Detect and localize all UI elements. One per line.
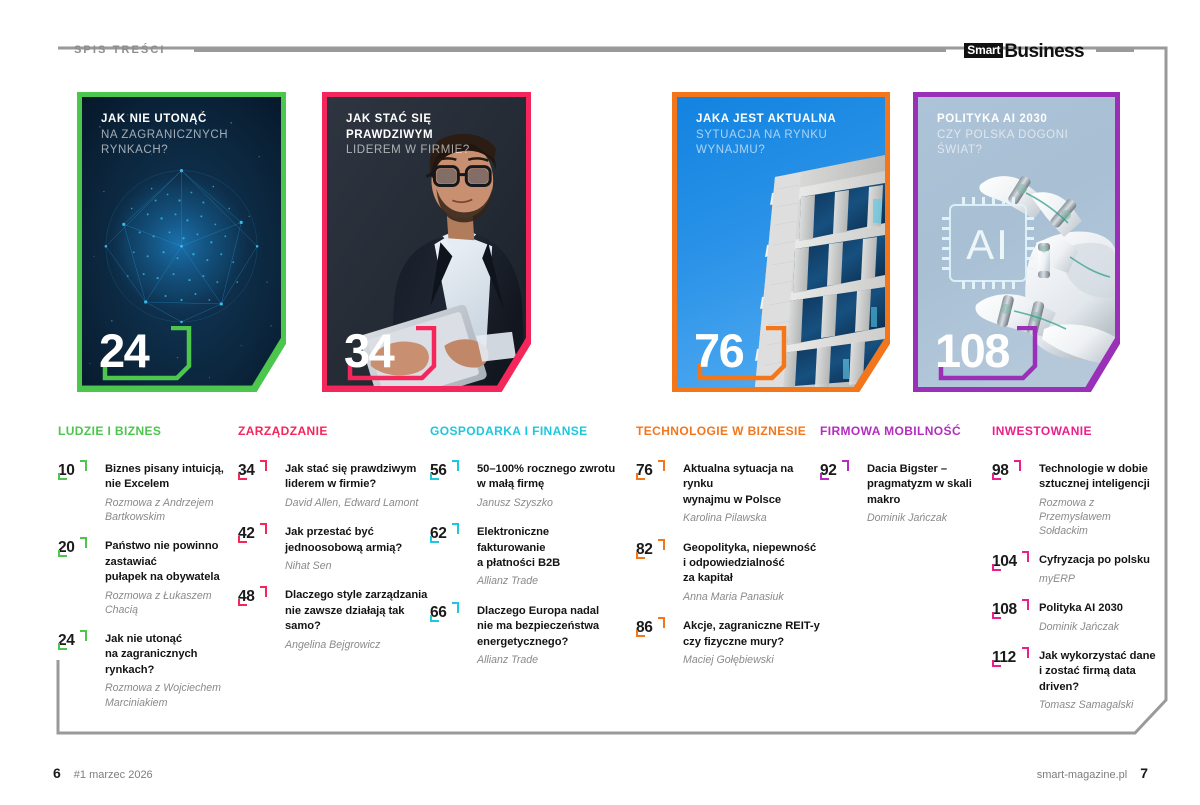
footer-right: smart-magazine.pl 7 bbox=[1037, 765, 1148, 781]
toc-entry-author: Rozmowa z WojciechemMarciniakiem bbox=[105, 681, 238, 709]
toc-entry[interactable]: 10Biznes pisany intuicją,nie ExcelemRozm… bbox=[58, 462, 238, 524]
toc-entry-page-wrap: 48 bbox=[238, 588, 282, 652]
toc-entry-title: Dlaczego style zarządzanianie zawsze dzi… bbox=[285, 588, 428, 634]
toc-entry-title: Dacia Bigster –pragmatyzm w skali makro bbox=[867, 462, 990, 508]
toc-entry-title: Jak wykorzystać danei zostać firmą data … bbox=[1039, 649, 1168, 695]
toc-entry-page-wrap: 108 bbox=[992, 601, 1036, 634]
toc-entry-body: Technologie w dobiesztucznej inteligencj… bbox=[1036, 462, 1168, 538]
toc-entry-bracket-top bbox=[452, 523, 459, 534]
logo-business-text: Business bbox=[1004, 42, 1084, 61]
toc-entry-author: Karolina Pilawska bbox=[683, 511, 821, 525]
feature-card-1-page: 24 bbox=[99, 327, 148, 374]
toc-entry-page-wrap: 24 bbox=[58, 632, 102, 710]
feature-card-4-title-line2: CZY POLSKA DOGONI ŚWIAT? bbox=[937, 128, 1106, 159]
toc-entry-bracket-top bbox=[658, 460, 665, 471]
toc-entry-page-wrap: 82 bbox=[636, 541, 680, 605]
feature-card-3-title-line2: SYTUACJA NA RYNKU WYNAJMU? bbox=[696, 128, 876, 159]
toc-entry[interactable]: 66Dlaczego Europa nadalnie ma bezpieczeń… bbox=[430, 604, 620, 668]
toc-entry-author: Janusz Szyszko bbox=[477, 496, 620, 510]
toc-entry-title: Technologie w dobiesztucznej inteligencj… bbox=[1039, 462, 1168, 493]
toc-entry-author: Rozmowa z Łukaszem Chacią bbox=[105, 589, 238, 617]
toc-entry-bracket-bottom bbox=[820, 473, 829, 480]
feature-card-1[interactable]: JAK NIE UTONĄĆ NA ZAGRANICZNYCH RYNKACH?… bbox=[77, 92, 286, 392]
toc-entry-body: Cyfryzacja po polskumyERP bbox=[1036, 553, 1168, 586]
toc-entry-title: Cyfryzacja po polsku bbox=[1039, 553, 1168, 568]
toc-section-heading: INWESTOWANIE bbox=[992, 424, 1168, 438]
toc-entry-page-wrap: 10 bbox=[58, 462, 102, 524]
page-header: SPIS TREŚCI Smart Business bbox=[74, 38, 1134, 62]
toc-section-heading: GOSPODARKA I FINANSE bbox=[430, 424, 620, 438]
toc-entry-body: Jak stać się prawdziwymliderem w firmie?… bbox=[282, 462, 428, 510]
feature-card-4[interactable]: AI POLITYKA AI 2030 CZY POLSKA DOGONI ŚW… bbox=[913, 92, 1120, 392]
toc-entry-body: Dlaczego Europa nadalnie ma bezpieczeńst… bbox=[474, 604, 620, 668]
toc-entry-title: Akcje, zagraniczne REIT-yczy fizyczne mu… bbox=[683, 619, 821, 650]
toc-entry-body: Akcje, zagraniczne REIT-yczy fizyczne mu… bbox=[680, 619, 821, 667]
toc-entry-page-wrap: 20 bbox=[58, 539, 102, 617]
toc-entry[interactable]: 62Elektroniczne fakturowaniea płatności … bbox=[430, 525, 620, 589]
toc-entry-author: Allianz Trade bbox=[477, 574, 620, 588]
header-rule-right bbox=[1096, 49, 1134, 52]
feature-card-2-title: JAK STAĆ SIĘ PRAWDZIWYM LIDEREM W FIRMIE… bbox=[346, 112, 517, 159]
toc-column-ludzie-i-biznes: LUDZIE I BIZNES10Biznes pisany intuicją,… bbox=[58, 424, 238, 725]
toc-entry-page-wrap: 62 bbox=[430, 525, 474, 589]
toc-entry-bracket-top bbox=[1022, 647, 1029, 658]
brand-logo: Smart Business bbox=[964, 41, 1084, 60]
toc-entry-bracket-top bbox=[658, 539, 665, 550]
toc-entry-body: 50–100% rocznego zwrotuw małą firmęJanus… bbox=[474, 462, 620, 510]
toc-section-heading: ZARZĄDZANIE bbox=[238, 424, 428, 438]
feature-card-1-title-line1: JAK NIE UTONĄĆ bbox=[101, 112, 272, 128]
header-rule-left bbox=[194, 49, 947, 52]
toc-entry-bracket-bottom bbox=[238, 536, 247, 543]
toc-column-firmowa-mobilnosc: FIRMOWA MOBILNOŚĆ92Dacia Bigster –pragma… bbox=[820, 424, 990, 541]
toc-entry[interactable]: 24Jak nie utonąćna zagranicznych rynkach… bbox=[58, 632, 238, 710]
magazine-toc-page: SPIS TREŚCI Smart Business bbox=[0, 0, 1200, 805]
feature-card-4-title: POLITYKA AI 2030 CZY POLSKA DOGONI ŚWIAT… bbox=[937, 112, 1106, 159]
toc-column-zarzadzanie: ZARZĄDZANIE34Jak stać się prawdziwymlide… bbox=[238, 424, 428, 667]
toc-entry-bracket-top bbox=[1022, 599, 1029, 610]
feature-cards: JAK NIE UTONĄĆ NA ZAGRANICZNYCH RYNKACH?… bbox=[0, 92, 1200, 392]
toc-entry-author: myERP bbox=[1039, 572, 1168, 586]
toc-entry-title: Elektroniczne fakturowaniea płatności B2… bbox=[477, 525, 620, 571]
toc-entry-bracket-top bbox=[80, 460, 87, 471]
feature-card-1-title: JAK NIE UTONĄĆ NA ZAGRANICZNYCH RYNKACH? bbox=[101, 112, 272, 159]
toc-entry[interactable]: 92Dacia Bigster –pragmatyzm w skali makr… bbox=[820, 462, 990, 526]
toc-entry-author: Rozmowa z PrzemysławemSołdackim bbox=[1039, 496, 1168, 539]
toc-entry-title: Aktualna sytuacja na rynkuwynajmu w Pols… bbox=[683, 462, 821, 508]
toc-entry-bracket-top bbox=[260, 586, 267, 597]
toc-entry[interactable]: 5650–100% rocznego zwrotuw małą firmęJan… bbox=[430, 462, 620, 510]
toc-entry-page-wrap: 66 bbox=[430, 604, 474, 668]
feature-card-3-title: JAKA JEST AKTUALNA SYTUACJA NA RYNKU WYN… bbox=[696, 112, 876, 159]
toc-entry-bracket-top bbox=[1014, 460, 1021, 471]
toc-entry-page-wrap: 104 bbox=[992, 553, 1036, 586]
toc-entry-bracket-bottom bbox=[636, 630, 645, 637]
toc-entry-author: Nihat Sen bbox=[285, 559, 428, 573]
toc-entry-author: Dominik Jańczak bbox=[1039, 620, 1168, 634]
toc-entry-title: Biznes pisany intuicją,nie Excelem bbox=[105, 462, 238, 493]
toc-column-inwestowanie: INWESTOWANIE98Technologie w dobiesztuczn… bbox=[992, 424, 1168, 727]
toc-entry-bracket-top bbox=[260, 523, 267, 534]
footer-website[interactable]: smart-magazine.pl bbox=[1037, 769, 1127, 781]
toc-entry-bracket-bottom bbox=[238, 599, 247, 606]
toc-entry-bracket-top bbox=[260, 460, 267, 471]
toc-entry-page-wrap: 34 bbox=[238, 462, 282, 510]
toc-entry-bracket-bottom bbox=[992, 564, 1001, 571]
toc-entry-author: David Allen, Edward Lamont bbox=[285, 496, 428, 510]
toc-entry-title: Jak przestać byćjednoosobową armią? bbox=[285, 525, 428, 556]
toc-entry-author: Rozmowa z AndrzejemBartkowskim bbox=[105, 496, 238, 524]
toc-entry-author: Tomasz Samagalski bbox=[1039, 698, 1168, 712]
feature-card-3-page: 76 bbox=[694, 327, 743, 374]
toc-entry-body: Elektroniczne fakturowaniea płatności B2… bbox=[474, 525, 620, 589]
toc-entry-page-wrap: 86 bbox=[636, 619, 680, 667]
toc-entry-bracket-top bbox=[80, 537, 87, 548]
toc-entry-author: Allianz Trade bbox=[477, 653, 620, 667]
logo-smart-text: Smart bbox=[964, 43, 1003, 58]
toc-entry[interactable]: 42Jak przestać byćjednoosobową armią?Nih… bbox=[238, 525, 428, 573]
toc-entry-bracket-top bbox=[80, 630, 87, 641]
toc-entry[interactable]: 112Jak wykorzystać danei zostać firmą da… bbox=[992, 649, 1168, 713]
toc-entry[interactable]: 82Geopolityka, niepewnośći odpowiedzialn… bbox=[636, 541, 821, 605]
toc-entry-bracket-bottom bbox=[430, 473, 439, 480]
toc-entry-author: Angelina Bejgrowicz bbox=[285, 638, 428, 652]
toc-entry[interactable]: 108Polityka AI 2030Dominik Jańczak bbox=[992, 601, 1168, 634]
feature-card-4-page: 108 bbox=[935, 327, 1009, 374]
toc-entry-body: Aktualna sytuacja na rynkuwynajmu w Pols… bbox=[680, 462, 821, 526]
toc-entry-title: Dlaczego Europa nadalnie ma bezpieczeńst… bbox=[477, 604, 620, 650]
toc-entry-bracket-top bbox=[452, 602, 459, 613]
toc-entry[interactable]: 86Akcje, zagraniczne REIT-yczy fizyczne … bbox=[636, 619, 821, 667]
toc-entry-bracket-bottom bbox=[992, 473, 1001, 480]
footer-left-page-number: 6 bbox=[53, 765, 61, 781]
toc-entry-page-wrap: 112 bbox=[992, 649, 1036, 713]
toc-entry-bracket-bottom bbox=[636, 473, 645, 480]
toc-entry[interactable]: 98Technologie w dobiesztucznej inteligen… bbox=[992, 462, 1168, 538]
toc-entry-bracket-bottom bbox=[430, 615, 439, 622]
toc-entry-page-wrap: 76 bbox=[636, 462, 680, 526]
toc-entry-bracket-bottom bbox=[992, 612, 1001, 619]
toc-entry-body: Geopolityka, niepewnośći odpowiedzialnoś… bbox=[680, 541, 821, 605]
toc-entry-bracket-bottom bbox=[430, 536, 439, 543]
toc-entry-bracket-bottom bbox=[636, 552, 645, 559]
toc-entry-bracket-top bbox=[452, 460, 459, 471]
toc-entry-page-wrap: 56 bbox=[430, 462, 474, 510]
toc-entry-author: Dominik Jańczak bbox=[867, 511, 990, 525]
toc-entry[interactable]: 20Państwo nie powinno zastawiaćpułapek n… bbox=[58, 539, 238, 617]
toc-entry-bracket-top bbox=[1022, 551, 1029, 562]
toc-entry-author: Maciej Gołębiewski bbox=[683, 653, 821, 667]
page-kicker: SPIS TREŚCI bbox=[74, 44, 166, 56]
toc-entry-body: Jak przestać byćjednoosobową armią?Nihat… bbox=[282, 525, 428, 573]
footer-issue: #1 marzec 2026 bbox=[74, 769, 153, 781]
toc-entry-body: Państwo nie powinno zastawiaćpułapek na … bbox=[102, 539, 238, 617]
feature-card-3[interactable]: JAKA JEST AKTUALNA SYTUACJA NA RYNKU WYN… bbox=[672, 92, 890, 392]
toc-entry-page-wrap: 98 bbox=[992, 462, 1036, 538]
toc-column-technologie-w-biznesie: TECHNOLOGIE W BIZNESIE76Aktualna sytuacj… bbox=[636, 424, 821, 682]
toc-entry-author: Anna Maria Panasiuk bbox=[683, 590, 821, 604]
feature-card-1-title-line2: NA ZAGRANICZNYCH RYNKACH? bbox=[101, 128, 272, 159]
toc-entry-title: Jak stać się prawdziwymliderem w firmie? bbox=[285, 462, 428, 493]
toc-entry-body: Dlaczego style zarządzanianie zawsze dzi… bbox=[282, 588, 428, 652]
toc-column-gospodarka-i-finanse: GOSPODARKA I FINANSE5650–100% rocznego z… bbox=[430, 424, 620, 682]
toc-entry-title: Polityka AI 2030 bbox=[1039, 601, 1168, 616]
toc-entry-title: 50–100% rocznego zwrotuw małą firmę bbox=[477, 462, 620, 493]
feature-card-2-title-line2: LIDEREM W FIRMIE? bbox=[346, 143, 517, 159]
toc-entry-body: Dacia Bigster –pragmatyzm w skali makroD… bbox=[864, 462, 990, 526]
toc-entry[interactable]: 104Cyfryzacja po polskumyERP bbox=[992, 553, 1168, 586]
toc-entry-page-wrap: 92 bbox=[820, 462, 864, 526]
footer-right-page-number: 7 bbox=[1140, 765, 1148, 781]
feature-card-2-page: 34 bbox=[344, 327, 393, 374]
feature-card-2-title-line1: JAK STAĆ SIĘ PRAWDZIWYM bbox=[346, 112, 517, 143]
toc-entry-body: Polityka AI 2030Dominik Jańczak bbox=[1036, 601, 1168, 634]
footer-left: 6 #1 marzec 2026 bbox=[53, 765, 153, 781]
toc-entry-title: Jak nie utonąćna zagranicznych rynkach? bbox=[105, 632, 238, 678]
toc-section-heading: TECHNOLOGIE W BIZNESIE bbox=[636, 424, 821, 438]
ai-chip-label: AI bbox=[966, 221, 1010, 268]
toc-entry-bracket-top bbox=[842, 460, 849, 471]
toc-entry-bracket-bottom bbox=[58, 643, 67, 650]
toc-entry-bracket-bottom bbox=[58, 550, 67, 557]
toc-entry[interactable]: 34Jak stać się prawdziwymliderem w firmi… bbox=[238, 462, 428, 510]
toc-entry[interactable]: 76Aktualna sytuacja na rynkuwynajmu w Po… bbox=[636, 462, 821, 526]
toc-entry-title: Geopolityka, niepewnośći odpowiedzialnoś… bbox=[683, 541, 821, 587]
toc-section-heading: LUDZIE I BIZNES bbox=[58, 424, 238, 438]
feature-card-4-title-line1: POLITYKA AI 2030 bbox=[937, 112, 1106, 128]
toc-entry-body: Jak wykorzystać danei zostać firmą data … bbox=[1036, 649, 1168, 713]
toc-section-heading: FIRMOWA MOBILNOŚĆ bbox=[820, 424, 990, 438]
toc-entry-title: Państwo nie powinno zastawiaćpułapek na … bbox=[105, 539, 238, 585]
toc-entry-bracket-bottom bbox=[992, 660, 1001, 667]
toc-entry-bracket-top bbox=[658, 617, 665, 628]
toc-entry-page-wrap: 42 bbox=[238, 525, 282, 573]
toc-entry-body: Biznes pisany intuicją,nie ExcelemRozmow… bbox=[102, 462, 238, 524]
toc-entry-body: Jak nie utonąćna zagranicznych rynkach?R… bbox=[102, 632, 238, 710]
feature-card-3-title-line1: JAKA JEST AKTUALNA bbox=[696, 112, 876, 128]
feature-card-2[interactable]: JAK STAĆ SIĘ PRAWDZIWYM LIDEREM W FIRMIE… bbox=[322, 92, 531, 392]
toc-entry-bracket-bottom bbox=[238, 473, 247, 480]
toc-entry[interactable]: 48Dlaczego style zarządzanianie zawsze d… bbox=[238, 588, 428, 652]
toc-entry-bracket-bottom bbox=[58, 473, 67, 480]
